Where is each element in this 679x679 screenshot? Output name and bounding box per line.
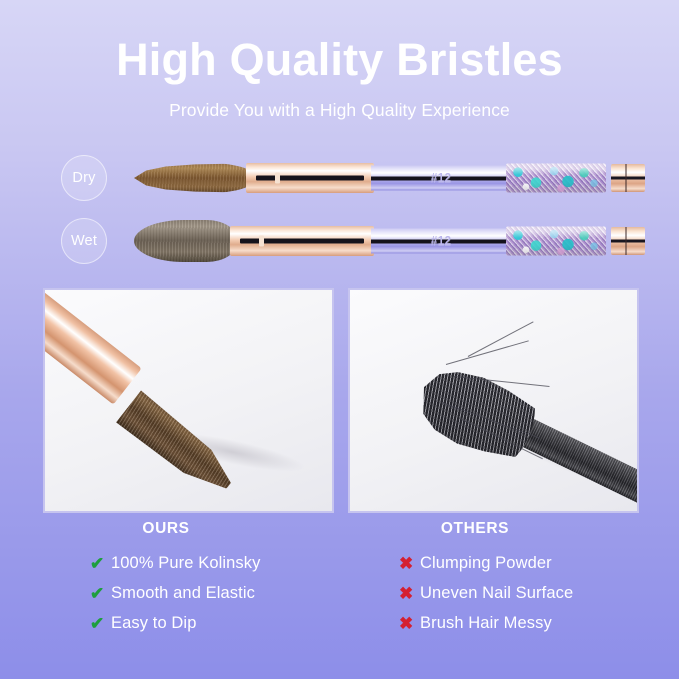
brush-end-cap-wet [611, 227, 645, 255]
list-item-label: Smooth and Elastic [111, 584, 255, 603]
cross-icon: ✖ [399, 555, 420, 572]
brush-bristles-dry [134, 163, 256, 194]
badge-dry-label: Dry [72, 170, 95, 186]
list-item: ✖ Uneven Nail Surface [349, 578, 639, 608]
photo-background-left [45, 290, 332, 511]
brush-handle-dry: #12 [371, 166, 506, 191]
check-icon: ✔ [90, 585, 111, 602]
check-icon: ✔ [90, 555, 111, 572]
cap-ring-dry [625, 164, 627, 192]
list-item-label: 100% Pure Kolinsky [111, 554, 260, 573]
cap-ring-wet [625, 227, 627, 255]
photo-comparison [43, 288, 639, 513]
list-item-label: Clumping Powder [420, 554, 552, 573]
handle-size-label-wet: #12 [431, 235, 452, 247]
others-heading: OTHERS [349, 520, 639, 538]
header: High Quality Bristles Provide You with a… [0, 36, 679, 121]
cross-icon: ✖ [399, 615, 420, 632]
page-title: High Quality Bristles [0, 36, 679, 85]
ours-column: OURS ✔ 100% Pure Kolinsky ✔ Smooth and E… [40, 520, 330, 638]
badge-wet-label: Wet [71, 233, 97, 249]
handle-size-label-dry: #12 [431, 172, 452, 184]
clean-kolinsky-brush-photo [43, 288, 334, 513]
badge-dry: Dry [61, 155, 107, 201]
messy-frayed-brush-photo [348, 288, 639, 513]
glitter-barrel-dry [506, 164, 606, 193]
cap-seam-wet [611, 240, 645, 243]
check-icon: ✔ [90, 615, 111, 632]
list-item: ✖ Clumping Powder [349, 548, 639, 578]
ours-heading: OURS [40, 520, 330, 538]
brush-end-cap-dry [611, 164, 645, 192]
glitter-barrel-wet [506, 227, 606, 256]
list-item: ✔ Easy to Dip [40, 608, 330, 638]
list-item: ✔ Smooth and Elastic [40, 578, 330, 608]
list-item: ✖ Brush Hair Messy [349, 608, 639, 638]
cap-seam-dry [611, 177, 645, 180]
cross-icon: ✖ [399, 585, 420, 602]
brush-illustration-wet: #12 [128, 208, 658, 274]
feature-comparison: OURS ✔ 100% Pure Kolinsky ✔ Smooth and E… [0, 520, 679, 640]
brush-row-dry: Dry #12 [0, 145, 679, 211]
list-item: ✔ 100% Pure Kolinsky [40, 548, 330, 578]
brush-illustration-dry: #12 [128, 145, 658, 211]
badge-wet: Wet [61, 218, 107, 264]
list-item-label: Easy to Dip [111, 614, 196, 633]
list-item-label: Brush Hair Messy [420, 614, 552, 633]
ferrule-seam-dry [256, 176, 364, 181]
brush-bristles-wet [134, 220, 238, 262]
others-column: OTHERS ✖ Clumping Powder ✖ Uneven Nail S… [349, 520, 639, 638]
ferrule-accent-dry [275, 173, 280, 184]
brush-row-wet: Wet #12 [0, 208, 679, 274]
ferrule-accent-wet [259, 236, 264, 247]
list-item-label: Uneven Nail Surface [420, 584, 573, 603]
page-subtitle: Provide You with a High Quality Experien… [0, 100, 679, 121]
brush-handle-wet: #12 [371, 229, 506, 254]
